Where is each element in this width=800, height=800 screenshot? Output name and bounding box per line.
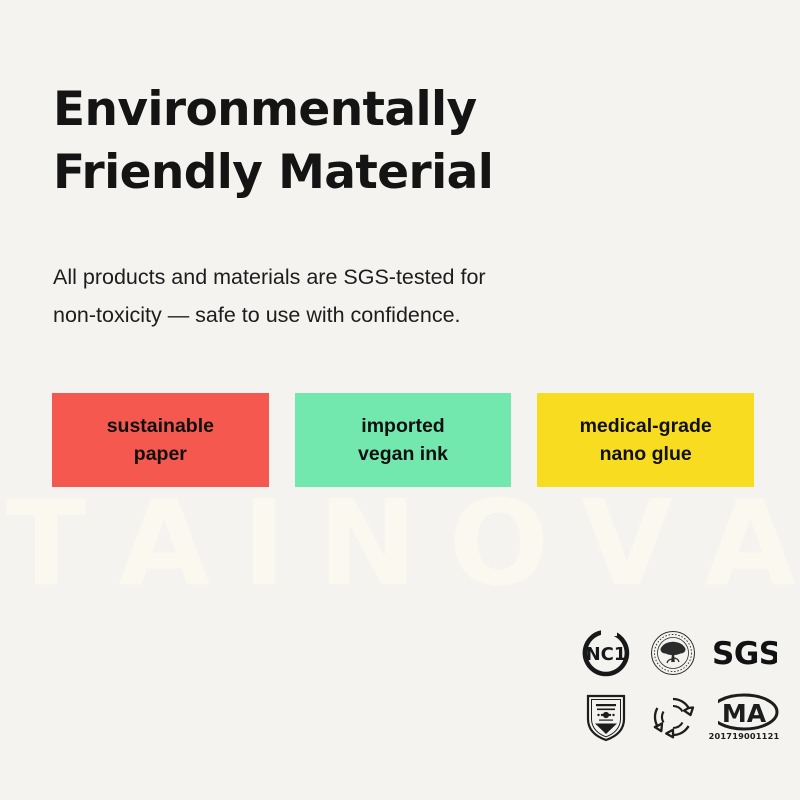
shield-badge-icon	[583, 691, 629, 743]
sgs-label: SGS	[712, 636, 777, 672]
cert-recycle	[641, 686, 704, 748]
material-tag-row: sustainable paper imported vegan ink med…	[52, 393, 754, 487]
nc1-icon: NC1	[581, 628, 631, 678]
watermark-letter: A	[705, 484, 796, 602]
certification-logo-grid: NC1 SGS	[574, 622, 780, 748]
recycle-icon	[648, 692, 698, 742]
page-title-line-2: Friendly Material	[53, 142, 613, 205]
material-tag-line-2: paper	[134, 443, 187, 465]
material-tag-medical-grade-nano-glue: medical-grade nano glue	[537, 393, 754, 487]
cert-sgs: SGS	[708, 622, 780, 684]
watermark-letter: O	[449, 484, 549, 602]
brand-watermark: T A I N O V A	[6, 478, 796, 608]
poster-canvas: T A I N O V A Environmentally Friendly M…	[0, 0, 800, 800]
material-tag-line-1: medical-grade	[580, 415, 712, 437]
sgs-icon: SGS	[711, 633, 777, 673]
material-tag-imported-vegan-ink: imported vegan ink	[295, 393, 512, 487]
watermark-letter: T	[6, 484, 87, 602]
cert-nc1: NC1	[574, 622, 637, 684]
page-title: Environmentally Friendly Material	[53, 79, 613, 204]
watermark-letter: A	[119, 484, 210, 602]
nc1-label: NC1	[585, 644, 626, 665]
watermark-letter: V	[581, 484, 672, 602]
page-subtitle-line-1: All products and materials are SGS-teste…	[53, 258, 653, 296]
cma-number: 201719001121	[709, 731, 780, 741]
page-title-line-1: Environmentally	[53, 79, 613, 142]
cert-forest-seal	[641, 622, 704, 684]
watermark-letter: I	[242, 484, 286, 602]
material-tag-line-1: imported	[361, 415, 444, 437]
material-tag-line-2: nano glue	[600, 443, 692, 465]
forest-seal-icon	[649, 629, 697, 677]
watermark-letter: N	[318, 484, 417, 602]
cma-label: MA	[722, 699, 767, 728]
cma-icon: MA 201719001121	[708, 691, 780, 743]
cert-shield-badge	[574, 686, 637, 748]
material-tag-line-1: sustainable	[107, 415, 214, 437]
cert-cma: MA 201719001121	[708, 686, 780, 748]
page-subtitle: All products and materials are SGS-teste…	[53, 258, 653, 335]
page-subtitle-line-2: non-toxicity — safe to use with confiden…	[53, 296, 653, 334]
material-tag-sustainable-paper: sustainable paper	[52, 393, 269, 487]
material-tag-line-2: vegan ink	[358, 443, 448, 465]
